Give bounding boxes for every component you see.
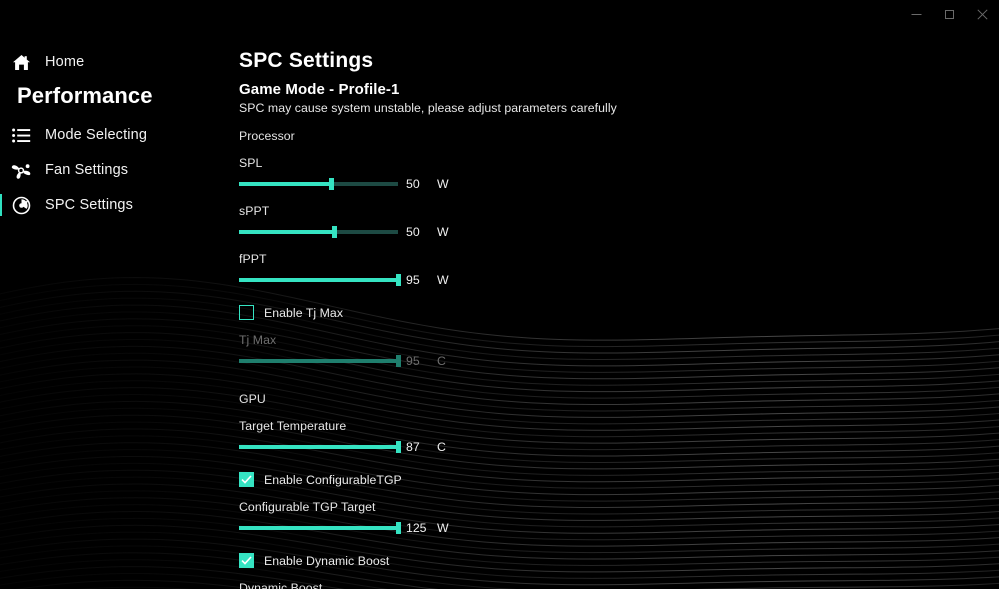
slider-tj-max-unit: C [437,354,446,368]
slider-row-tj-max: 95 C [239,354,999,368]
home-icon [9,51,34,73]
checkbox-enable-configurable-tgp[interactable] [239,472,254,487]
slider-row-fppt: 95 W [239,273,999,287]
slider-configurable-tgp-target-unit: W [437,521,449,535]
field-label-spl: SPL [239,156,999,170]
sidebar-item-home[interactable]: Home [0,48,232,76]
sidebar-item-home-label: Home [45,54,84,70]
spc-settings-window: Home Performance Mode Selecting [0,0,999,589]
maximize-icon [944,9,955,20]
sidebar-item-spc-settings-label: SPC Settings [45,197,133,213]
sidebar-active-indicator [0,194,2,216]
slider-sppt[interactable] [239,230,398,234]
field-label-configurable-tgp-target: Configurable TGP Target [239,500,999,514]
slider-sppt-thumb[interactable] [332,226,337,238]
slider-target-temperature-fill [239,445,398,449]
checkbox-row-enable-configurable-tgp[interactable]: Enable ConfigurableTGP [239,472,999,487]
slider-configurable-tgp-target-thumb[interactable] [396,522,401,534]
slider-sppt-fill [239,230,334,234]
minimize-button[interactable] [900,0,933,28]
slider-tj-max-value: 95 [406,354,430,368]
checkmark-icon [241,475,252,484]
window-titlebar [0,0,999,28]
page-title: SPC Settings [239,48,999,74]
slider-row-sppt: 50 W [239,225,999,239]
checkbox-row-enable-tj-max[interactable]: Enable Tj Max [239,305,999,320]
slider-configurable-tgp-target-value: 125 [406,521,430,535]
slider-spl-unit: W [437,177,449,191]
slider-target-temperature[interactable] [239,445,398,449]
slider-sppt-unit: W [437,225,449,239]
slider-target-temperature-thumb[interactable] [396,441,401,453]
slider-sppt-value: 50 [406,225,430,239]
slider-fppt[interactable] [239,278,398,282]
maximize-button[interactable] [933,0,966,28]
sidebar-item-fan-settings[interactable]: Fan Settings [0,156,232,184]
slider-fppt-value: 95 [406,273,430,287]
field-tj-max: Tj Max 95 C [239,333,999,368]
field-fppt: fPPT 95 W [239,252,999,287]
checkbox-enable-tj-max[interactable] [239,305,254,320]
field-label-tj-max: Tj Max [239,333,999,347]
slider-target-temperature-unit: C [437,440,446,454]
field-label-sppt: sPPT [239,204,999,218]
slider-fppt-fill [239,278,398,282]
profile-title: Game Mode - Profile-1 [239,81,999,98]
slider-row-configurable-tgp-target: 125 W [239,521,999,535]
list-icon [9,124,34,146]
checkbox-enable-dynamic-boost-label: Enable Dynamic Boost [264,554,389,568]
sidebar-item-mode-selecting-label: Mode Selecting [45,127,147,143]
fan-icon [9,159,34,181]
field-sppt: sPPT 50 W [239,204,999,239]
field-dynamic-boost: Dynamic Boost 15 W [239,581,999,589]
sidebar-item-spc-settings[interactable]: SPC Settings [0,191,232,219]
minimize-icon [911,9,922,20]
sidebar-item-fan-settings-label: Fan Settings [45,162,128,178]
checkmark-icon [241,556,252,565]
slider-fppt-unit: W [437,273,449,287]
checkbox-enable-dynamic-boost[interactable] [239,553,254,568]
close-icon [977,9,988,20]
slider-configurable-tgp-target[interactable] [239,526,398,530]
checkbox-row-enable-dynamic-boost[interactable]: Enable Dynamic Boost [239,553,999,568]
gauge-icon [9,194,34,216]
field-label-fppt: fPPT [239,252,999,266]
slider-spl-thumb[interactable] [329,178,334,190]
slider-tj-max-fill [239,359,398,363]
sidebar-section-title: Performance [0,83,232,109]
field-label-target-temperature: Target Temperature [239,419,999,433]
slider-tj-max [239,359,398,363]
warning-text: SPC may cause system unstable, please ad… [239,101,999,115]
sidebar-item-mode-selecting[interactable]: Mode Selecting [0,121,232,149]
field-target-temperature: Target Temperature 87 C [239,419,999,454]
close-button[interactable] [966,0,999,28]
sidebar-navigation: Home Performance Mode Selecting [0,28,232,589]
field-configurable-tgp-target: Configurable TGP Target 125 W [239,500,999,535]
slider-row-target-temperature: 87 C [239,440,999,454]
field-label-dynamic-boost: Dynamic Boost [239,581,999,589]
group-header-processor: Processor [239,129,999,143]
slider-target-temperature-value: 87 [406,440,430,454]
slider-spl-value: 50 [406,177,430,191]
slider-configurable-tgp-target-fill [239,526,398,530]
checkbox-enable-tj-max-label: Enable Tj Max [264,306,343,320]
slider-row-spl: 50 W [239,177,999,191]
slider-fppt-thumb[interactable] [396,274,401,286]
group-header-gpu: GPU [239,392,999,406]
slider-tj-max-thumb [396,355,401,367]
field-spl: SPL 50 W [239,156,999,191]
slider-spl-fill [239,182,331,186]
slider-spl[interactable] [239,182,398,186]
checkbox-enable-configurable-tgp-label: Enable ConfigurableTGP [264,473,402,487]
main-content: SPC Settings Game Mode - Profile-1 SPC m… [239,48,999,589]
